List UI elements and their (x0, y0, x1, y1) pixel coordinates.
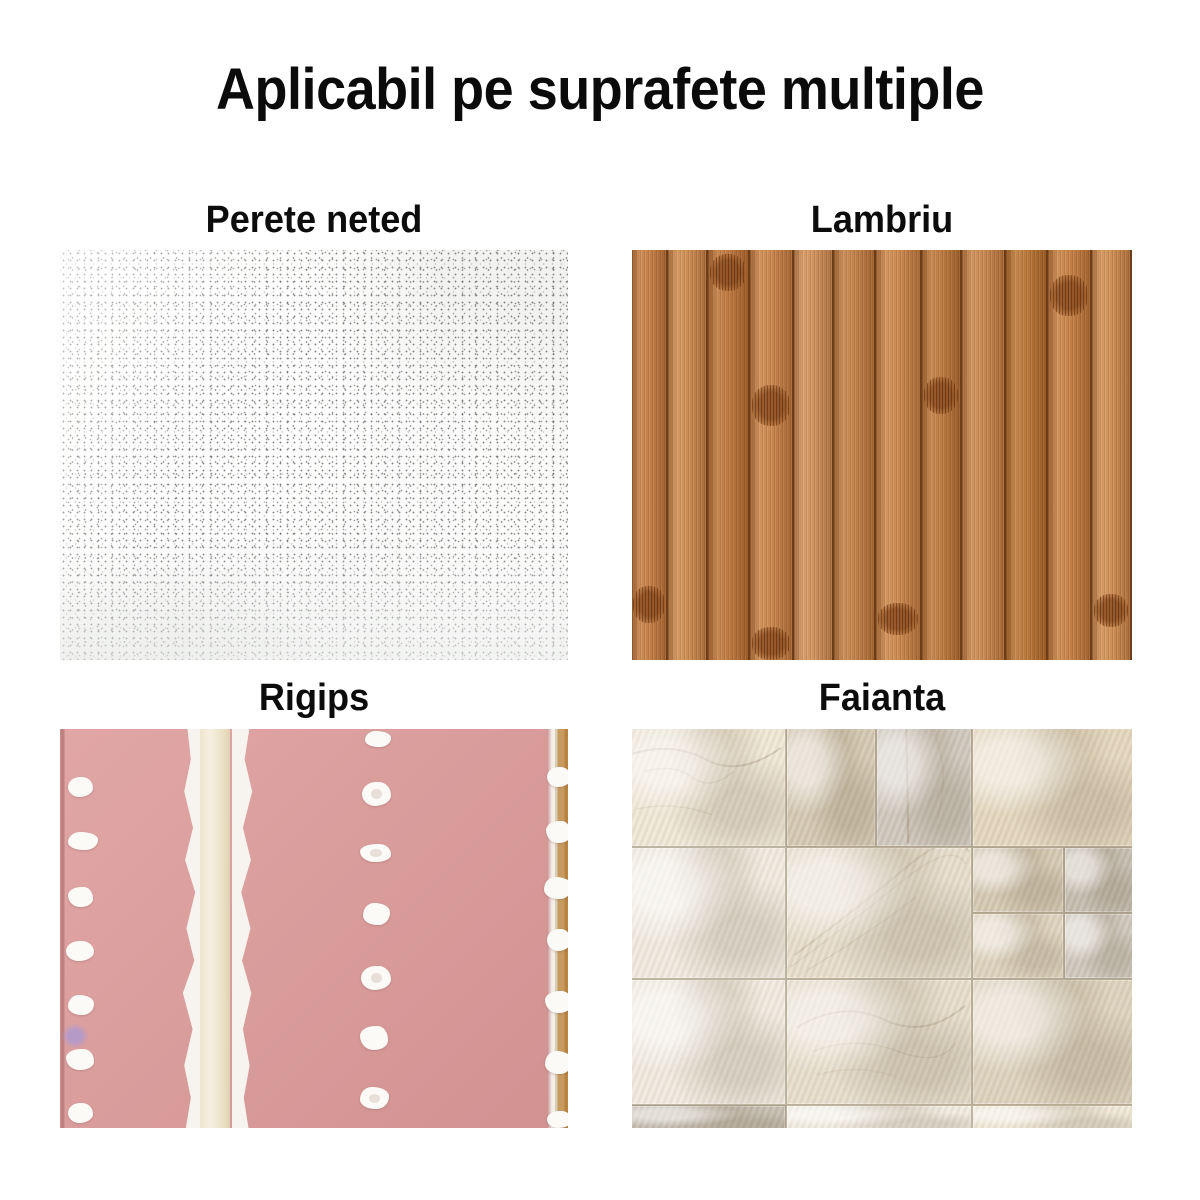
wood-knot-icon (924, 377, 959, 414)
surface-card-faianta: Faianta (632, 676, 1132, 1131)
tile (786, 729, 876, 847)
tile (972, 979, 1132, 1105)
surface-image-lambriu (632, 250, 1132, 660)
joint-tape-strip (200, 729, 230, 1128)
screw-head-dimple (371, 973, 382, 983)
wood-plank (962, 250, 1006, 660)
wood-plank (1092, 250, 1132, 660)
surface-image-perete-neted (60, 250, 568, 660)
tile (786, 847, 972, 979)
stone-vein-pattern (877, 729, 971, 846)
wood-plank (750, 250, 794, 660)
wood-plank (794, 250, 834, 660)
joint-compound-right (232, 729, 274, 1128)
tile (972, 1105, 1132, 1128)
stone-vein-pattern (787, 848, 971, 979)
wood-plank (668, 250, 708, 660)
screw-patch (547, 767, 568, 787)
wood-plank (1048, 250, 1092, 660)
wood-knot-icon (752, 627, 791, 660)
screw-head-dimple (369, 1094, 380, 1103)
tile (632, 979, 786, 1105)
tile (972, 729, 1132, 847)
page-title: Aplicabil pe suprafete multiple (42, 58, 1158, 122)
tile (632, 847, 786, 979)
surface-label-perete-neted: Perete neted (73, 198, 556, 242)
screw-patch (68, 1103, 93, 1123)
screw-patch (544, 877, 568, 899)
surface-image-rigips (60, 729, 568, 1128)
surface-label-lambriu: Lambriu (645, 198, 1120, 242)
screw-patch (68, 777, 93, 797)
screw-head-dimple (370, 849, 382, 857)
wood-plank (876, 250, 922, 660)
tile (876, 729, 972, 847)
wood-knot-icon (710, 254, 747, 291)
poster-canvas: Aplicabil pe suprafete multiple Perete n… (0, 0, 1200, 1200)
screw-patch (547, 929, 568, 951)
screw-patch (66, 941, 94, 961)
screw-patch (361, 966, 391, 990)
tile (632, 729, 786, 847)
screw-patch (68, 995, 94, 1015)
surface-label-faianta: Faianta (645, 676, 1120, 720)
screw-patch (68, 887, 93, 907)
tile (786, 979, 972, 1105)
tile (786, 1105, 972, 1128)
screw-patch (66, 1049, 94, 1070)
tile (632, 1105, 786, 1128)
stone-vein-pattern (632, 729, 785, 846)
smooth-wall-shading (60, 250, 568, 660)
screw-patch (360, 1087, 389, 1109)
wood-knot-icon (1094, 594, 1129, 627)
screw-patch (360, 844, 391, 862)
wood-knot-icon (752, 385, 791, 426)
screw-patch (365, 731, 391, 747)
wood-plank (834, 250, 876, 660)
screw-head-dimple (371, 789, 382, 799)
wood-plank (922, 250, 962, 660)
screw-patch (363, 903, 390, 925)
tile (972, 847, 1064, 913)
surface-card-perete-neted: Perete neted (60, 198, 568, 663)
wood-plank (632, 250, 668, 660)
tile (1064, 847, 1132, 913)
tile (1064, 913, 1132, 979)
screw-patch (546, 821, 568, 843)
drywall-left-edge (60, 729, 65, 1128)
wood-knot-icon (633, 586, 664, 623)
surface-image-faianta (632, 729, 1132, 1128)
screw-patch (547, 1111, 568, 1128)
wood-knot-icon (878, 603, 918, 636)
surface-label-rigips: Rigips (73, 676, 556, 720)
wood-plank (1006, 250, 1048, 660)
wood-knot-icon (1050, 275, 1089, 316)
stone-vein-pattern (787, 980, 971, 1105)
surface-card-lambriu: Lambriu (632, 198, 1132, 663)
screw-patch (545, 991, 568, 1013)
wood-plank (708, 250, 750, 660)
tile (972, 913, 1064, 979)
joint-compound-left (160, 729, 204, 1128)
lens-flare-artifact (62, 1024, 88, 1048)
screw-patch (68, 832, 98, 850)
screw-patch (362, 782, 391, 806)
surface-card-rigips: Rigips (60, 676, 568, 1131)
screw-patch (360, 1026, 388, 1050)
screw-patch (545, 1051, 568, 1074)
